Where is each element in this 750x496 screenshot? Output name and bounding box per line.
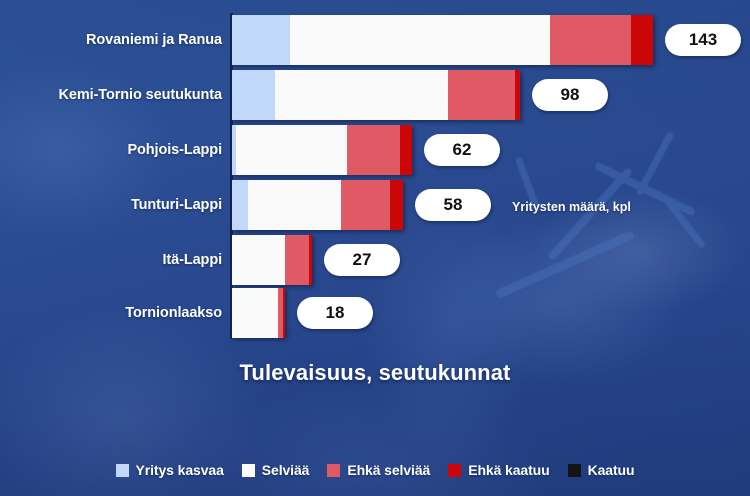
stacked-bar[interactable] — [232, 70, 520, 120]
value-pill: 58 — [415, 189, 491, 221]
segment-risk — [400, 125, 412, 175]
legend-swatch-icon — [116, 464, 129, 477]
segment-maybe — [347, 125, 400, 175]
stacked-bar[interactable] — [232, 125, 412, 175]
legend-swatch-icon — [448, 464, 461, 477]
bar-row: Tornionlaakso 18 — [0, 288, 750, 338]
segment-risk — [309, 235, 312, 285]
segment-ok — [248, 180, 341, 230]
segment-ok — [236, 125, 347, 175]
stacked-bar[interactable] — [232, 15, 653, 65]
legend-label: Selviää — [262, 462, 310, 478]
segment-maybe — [448, 70, 515, 120]
segment-risk — [631, 15, 653, 65]
legend-swatch-icon — [327, 464, 340, 477]
segment-maybe — [341, 180, 390, 230]
stacked-bar[interactable] — [232, 180, 403, 230]
segment-ok — [232, 288, 278, 338]
segment-maybe — [550, 15, 631, 65]
segment-grow — [232, 180, 248, 230]
value-pill: 62 — [424, 134, 500, 166]
category-label: Kemi-Tornio seutukunta — [0, 87, 222, 103]
unit-annotation: Yritysten määrä, kpl — [512, 200, 631, 214]
plot-area: Rovaniemi ja Ranua 143 Kemi-Tornio seutu… — [0, 0, 750, 496]
segment-grow — [232, 15, 290, 65]
legend-label: Ehkä selviää — [347, 462, 430, 478]
segment-risk — [283, 288, 285, 338]
category-label: Tunturi-Lappi — [0, 197, 222, 213]
category-label: Pohjois-Lappi — [0, 142, 222, 158]
stacked-bar[interactable] — [232, 235, 312, 285]
segment-ok — [290, 15, 550, 65]
bar-row: Kemi-Tornio seutukunta 98 — [0, 70, 750, 120]
segment-risk — [390, 180, 403, 230]
bar-row: Itä-Lappi 27 — [0, 235, 750, 285]
value-pill: 18 — [297, 297, 373, 329]
chart-legend: Yritys kasvaa Selviää Ehkä selviää Ehkä … — [0, 462, 750, 478]
value-pill: 27 — [324, 244, 400, 276]
bar-row: Tunturi-Lappi 58 — [0, 180, 750, 230]
legend-swatch-icon — [242, 464, 255, 477]
legend-item-yritys-kasvaa[interactable]: Yritys kasvaa — [116, 462, 224, 478]
segment-grow — [232, 70, 275, 120]
legend-label: Kaatuu — [588, 462, 635, 478]
legend-item-ehka-selviaa[interactable]: Ehkä selviää — [327, 462, 430, 478]
segment-risk — [515, 70, 520, 120]
legend-swatch-icon — [568, 464, 581, 477]
segment-ok — [275, 70, 448, 120]
category-label: Itä-Lappi — [0, 252, 222, 268]
category-label: Tornionlaakso — [0, 305, 222, 321]
bar-row: Pohjois-Lappi 62 — [0, 125, 750, 175]
segment-maybe — [285, 235, 309, 285]
chart-title: Tulevaisuus, seutukunnat — [0, 360, 750, 386]
value-pill: 143 — [665, 24, 741, 56]
stacked-bar[interactable] — [232, 288, 285, 338]
legend-item-ehka-kaatuu[interactable]: Ehkä kaatuu — [448, 462, 549, 478]
chart-container: Rovaniemi ja Ranua 143 Kemi-Tornio seutu… — [0, 0, 750, 496]
value-pill: 98 — [532, 79, 608, 111]
legend-item-kaatuu[interactable]: Kaatuu — [568, 462, 635, 478]
category-label: Rovaniemi ja Ranua — [0, 32, 222, 48]
bar-row: Rovaniemi ja Ranua 143 — [0, 15, 750, 65]
legend-label: Yritys kasvaa — [136, 462, 224, 478]
legend-item-selviaa[interactable]: Selviää — [242, 462, 310, 478]
segment-ok — [232, 235, 285, 285]
legend-label: Ehkä kaatuu — [468, 462, 549, 478]
